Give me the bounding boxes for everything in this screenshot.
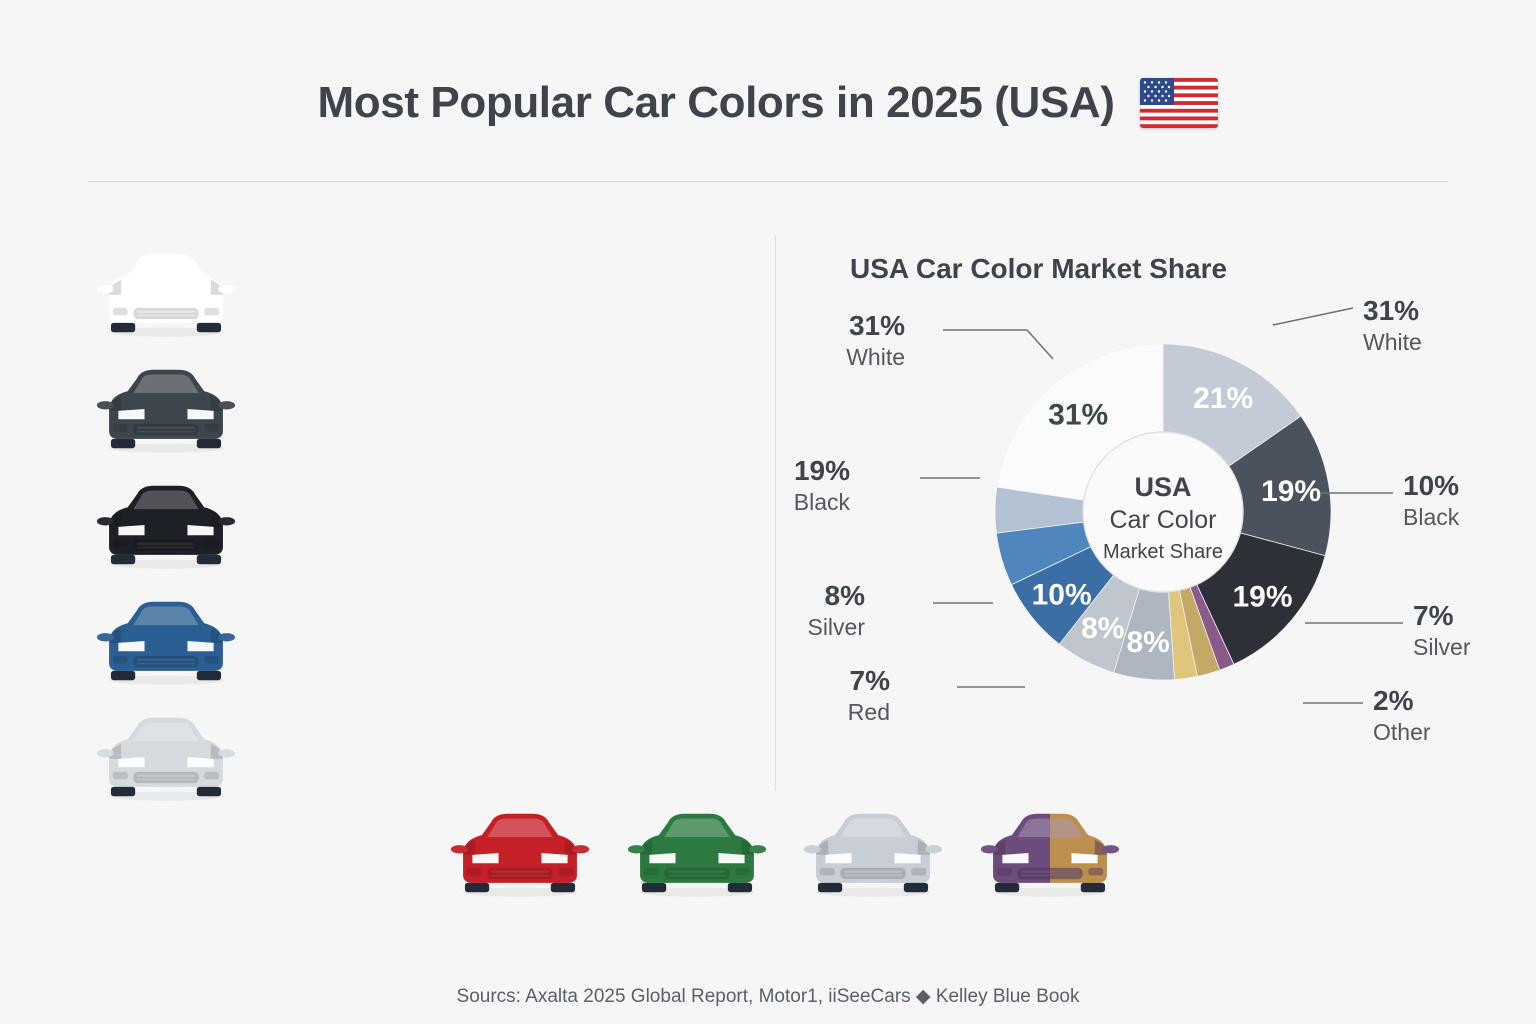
donut-callout-left-3: 7%Red <box>848 665 890 725</box>
donut-callout-left-1: 19%Black <box>794 455 851 515</box>
callout-percent: 7% <box>850 665 891 696</box>
list-item <box>96 470 756 586</box>
slice-value-label: 21% <box>1193 382 1253 415</box>
donut-center-line-2: Car Color <box>1110 506 1217 534</box>
secondary-color-item <box>798 806 948 911</box>
callout-percent: 8% <box>825 580 866 611</box>
color-ranking-list <box>96 238 756 818</box>
car-silver-icon <box>96 702 246 809</box>
leader-left-0-tail <box>1027 330 1053 359</box>
header-divider <box>88 181 1448 182</box>
callout-label: Other <box>1373 719 1431 745</box>
donut-chart: 21%19%19%8%8%10%31%USACar ColorMarket Sh… <box>775 235 1536 795</box>
sources-note: Sourcs: Axalta 2025 Global Report, Motor… <box>0 985 1536 1008</box>
donut-center-line-3: Market Share <box>1103 541 1223 563</box>
market-share-panel: USA Car Color Market Share 21%19%19%8%8%… <box>775 235 1536 795</box>
callout-percent: 31% <box>1363 295 1419 326</box>
list-item-heading <box>260 588 265 622</box>
list-item-heading <box>260 472 265 506</box>
leader-right-0 <box>1273 308 1353 325</box>
callout-percent: 31% <box>849 310 905 341</box>
secondary-color-item <box>975 806 1125 911</box>
slice-value-label: 8% <box>1126 626 1169 659</box>
secondary-color-row <box>445 806 1125 911</box>
callout-label: Silver <box>807 614 865 640</box>
donut-callout-right-2: 7%Silver <box>1413 600 1471 660</box>
car-black-icon <box>96 470 246 577</box>
secondary-color-item <box>622 806 772 911</box>
list-item <box>96 586 756 702</box>
donut-callout-right-0: 31%White <box>1363 295 1422 355</box>
callout-percent: 7% <box>1413 600 1454 631</box>
donut-callout-right-1: 10%Black <box>1403 470 1460 530</box>
callout-label: Black <box>1403 504 1460 530</box>
car-red-icon <box>445 806 595 905</box>
callout-percent: 10% <box>1403 470 1459 501</box>
callout-label: Red <box>848 699 890 725</box>
usa-flag-icon <box>1140 78 1218 128</box>
car-gray-icon <box>96 354 246 461</box>
donut-center-line-1: USA <box>1134 472 1191 502</box>
donut-callout-left-0: 31%White <box>846 310 905 370</box>
slice-value-label: 19% <box>1261 475 1321 508</box>
car-other-icon <box>975 806 1125 905</box>
list-item-heading <box>260 240 265 274</box>
callout-label: Black <box>794 489 851 515</box>
page-title: Most Popular Car Colors in 2025 (USA) <box>318 78 1115 128</box>
callout-percent: 19% <box>794 455 850 486</box>
callout-label: White <box>1363 329 1422 355</box>
callout-label: Silver <box>1413 634 1471 660</box>
slice-value-label: 8% <box>1081 612 1124 645</box>
slice-value-label: 19% <box>1232 581 1292 614</box>
car-blue-icon <box>96 586 246 693</box>
car-white-icon <box>96 238 246 345</box>
car-green-icon <box>622 806 772 905</box>
slice-value-label: 10% <box>1032 578 1092 611</box>
list-item <box>96 354 756 470</box>
secondary-color-item <box>445 806 595 911</box>
donut-callout-left-2: 8%Silver <box>807 580 865 640</box>
list-item-heading <box>260 356 265 390</box>
slice-value-label: 31% <box>1048 398 1108 431</box>
list-item-heading <box>260 704 265 738</box>
donut-callout-right-3: 2%Other <box>1373 685 1431 745</box>
car-silver-icon <box>798 806 948 905</box>
callout-label: White <box>846 344 905 370</box>
callout-percent: 2% <box>1373 685 1414 716</box>
list-item <box>96 702 756 818</box>
list-item <box>96 238 756 354</box>
header: Most Popular Car Colors in 2025 (USA) <box>0 78 1536 128</box>
